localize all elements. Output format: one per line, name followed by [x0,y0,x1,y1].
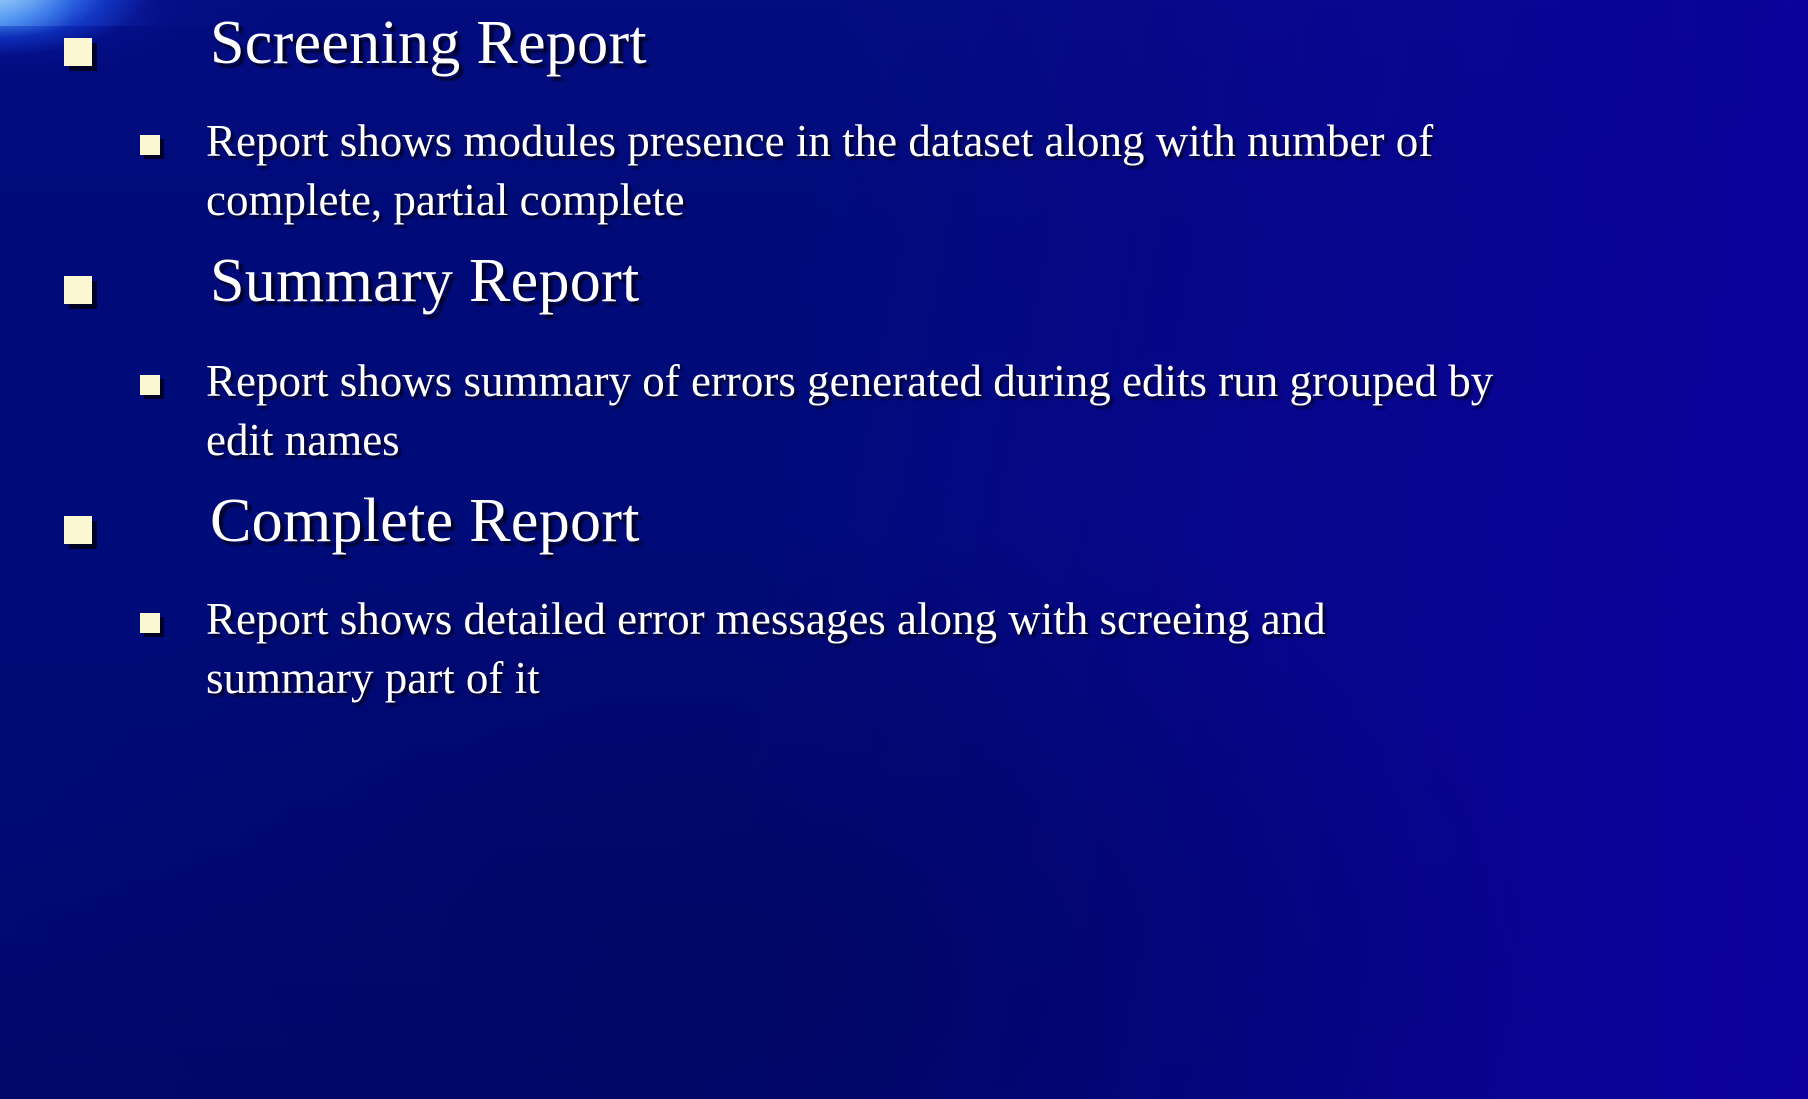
square-bullet-icon [64,276,92,304]
bullet-item-screening-report-description: Report shows modules presence in the dat… [140,112,1778,229]
heading-screening-report: Screening Report [210,12,647,75]
square-bullet-icon [140,375,160,395]
heading-summary-report: Summary Report [210,250,640,313]
square-bullet-icon [64,38,92,66]
slide-content: Screening Report Report shows modules pr… [0,0,1808,1099]
body-summary-report: Report shows summary of errors generated… [206,352,1496,469]
square-bullet-icon [140,135,160,155]
bullet-item-complete-report-description: Report shows detailed error messages alo… [140,590,1778,707]
square-bullet-icon [64,516,92,544]
square-bullet-icon [140,613,160,633]
presentation-slide: Screening Report Report shows modules pr… [0,0,1808,1099]
body-screening-report: Report shows modules presence in the dat… [206,112,1496,229]
body-complete-report: Report shows detailed error messages alo… [206,590,1496,707]
bullet-item-summary-report: Summary Report [52,250,1768,313]
bullet-item-screening-report: Screening Report [52,12,1768,75]
heading-complete-report: Complete Report [210,490,640,553]
bullet-item-complete-report: Complete Report [52,490,1768,553]
bullet-item-summary-report-description: Report shows summary of errors generated… [140,352,1778,469]
